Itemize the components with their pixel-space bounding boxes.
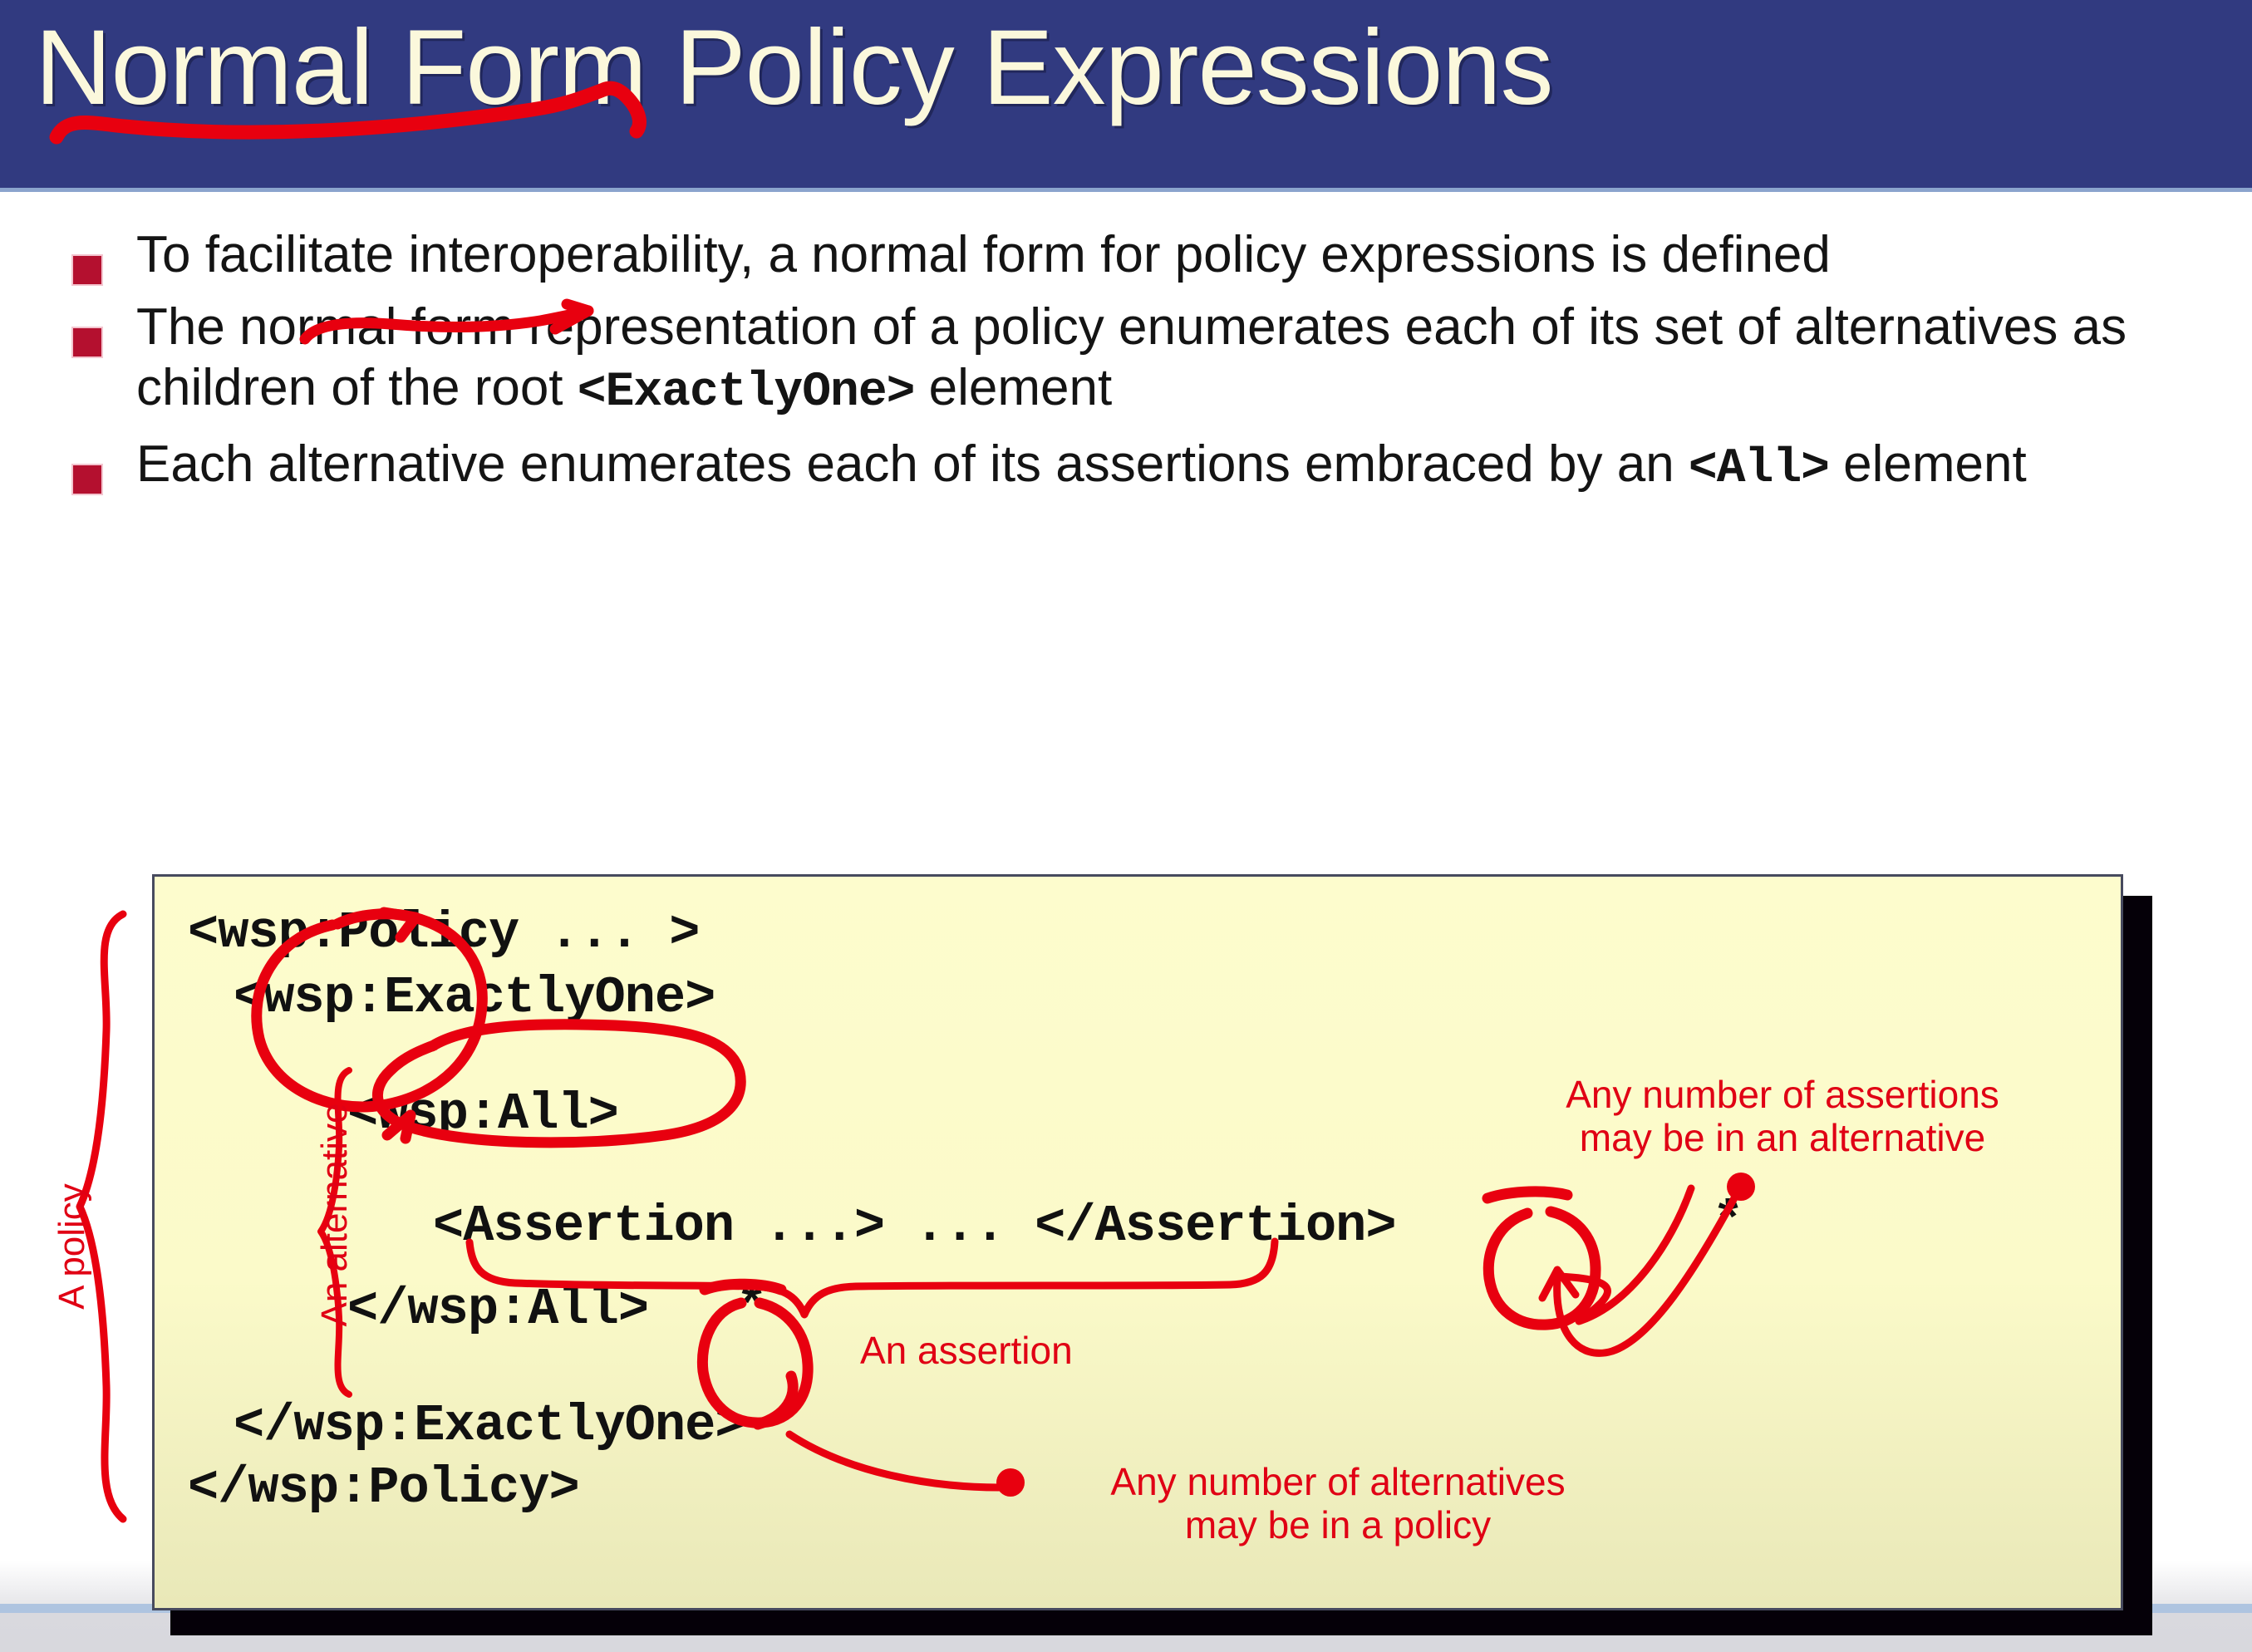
annotation-a-policy: A policy (52, 1130, 92, 1363)
code-line-policy-close: </wsp:Policy> (188, 1458, 579, 1517)
code-line-all-close-star: * (736, 1278, 766, 1337)
code-line-exactlyone-open: <wsp:ExactlyOne> (234, 968, 715, 1027)
code-line-assertion: <Assertion ...> ... </Assertion> (433, 1197, 1396, 1256)
list-item: To facilitate interoperability, a normal… (0, 224, 2252, 285)
slide-title-bar: Normal Form Policy Expressions (0, 0, 2252, 192)
annotation-an-assertion: An assertion (860, 1330, 1109, 1373)
square-bullet-icon (73, 256, 101, 284)
annotation-any-assertions: Any number of assertions may be in an al… (1533, 1074, 2032, 1159)
bullet-text-2: The normal form representation of a poli… (136, 297, 2252, 422)
code-line-policy-open: <wsp:Policy ... > (188, 903, 700, 962)
annotation-an-alternative: An alternative (314, 1040, 355, 1389)
square-bullet-icon (73, 328, 101, 356)
bullet-3-part-1: Each alternative enumerates each of its … (136, 435, 1689, 493)
code-line-all-close: </wsp:All> (347, 1280, 648, 1339)
bullet-1-part-1: To facilitate interoperability, a normal… (136, 226, 1831, 283)
list-item: Each alternative enumerates each of its … (0, 434, 2252, 498)
bullet-2-code-exactlyone: <ExactlyOne> (578, 366, 915, 420)
title-bar-bottom-edge (0, 188, 2252, 192)
code-line-exactlyone-close: </wsp:ExactlyOne> (234, 1396, 745, 1455)
code-line-all-open: <wsp:All> (347, 1084, 618, 1143)
slide-canvas: Normal Form Policy Expressions To facili… (0, 0, 2252, 1652)
list-item: The normal form representation of a poli… (0, 297, 2252, 422)
square-bullet-icon (73, 465, 101, 494)
bullet-text-3: Each alternative enumerates each of its … (136, 434, 2252, 498)
annotation-any-alternatives: Any number of alternatives may be in a p… (1064, 1461, 1612, 1546)
bullet-text-1: To facilitate interoperability, a normal… (136, 224, 2252, 285)
page-title: Normal Form Policy Expressions (35, 15, 1552, 121)
bullet-3-part-3: element (1829, 435, 2027, 493)
bullet-list: To facilitate interoperability, a normal… (0, 224, 2252, 509)
bullet-3-code-all: <All> (1689, 442, 1829, 496)
bullet-2-part-3: element (914, 359, 1112, 416)
code-line-assertion-star: * (1713, 1192, 1743, 1251)
bullet-2-part-1: The normal form representation of a poli… (136, 298, 2127, 416)
